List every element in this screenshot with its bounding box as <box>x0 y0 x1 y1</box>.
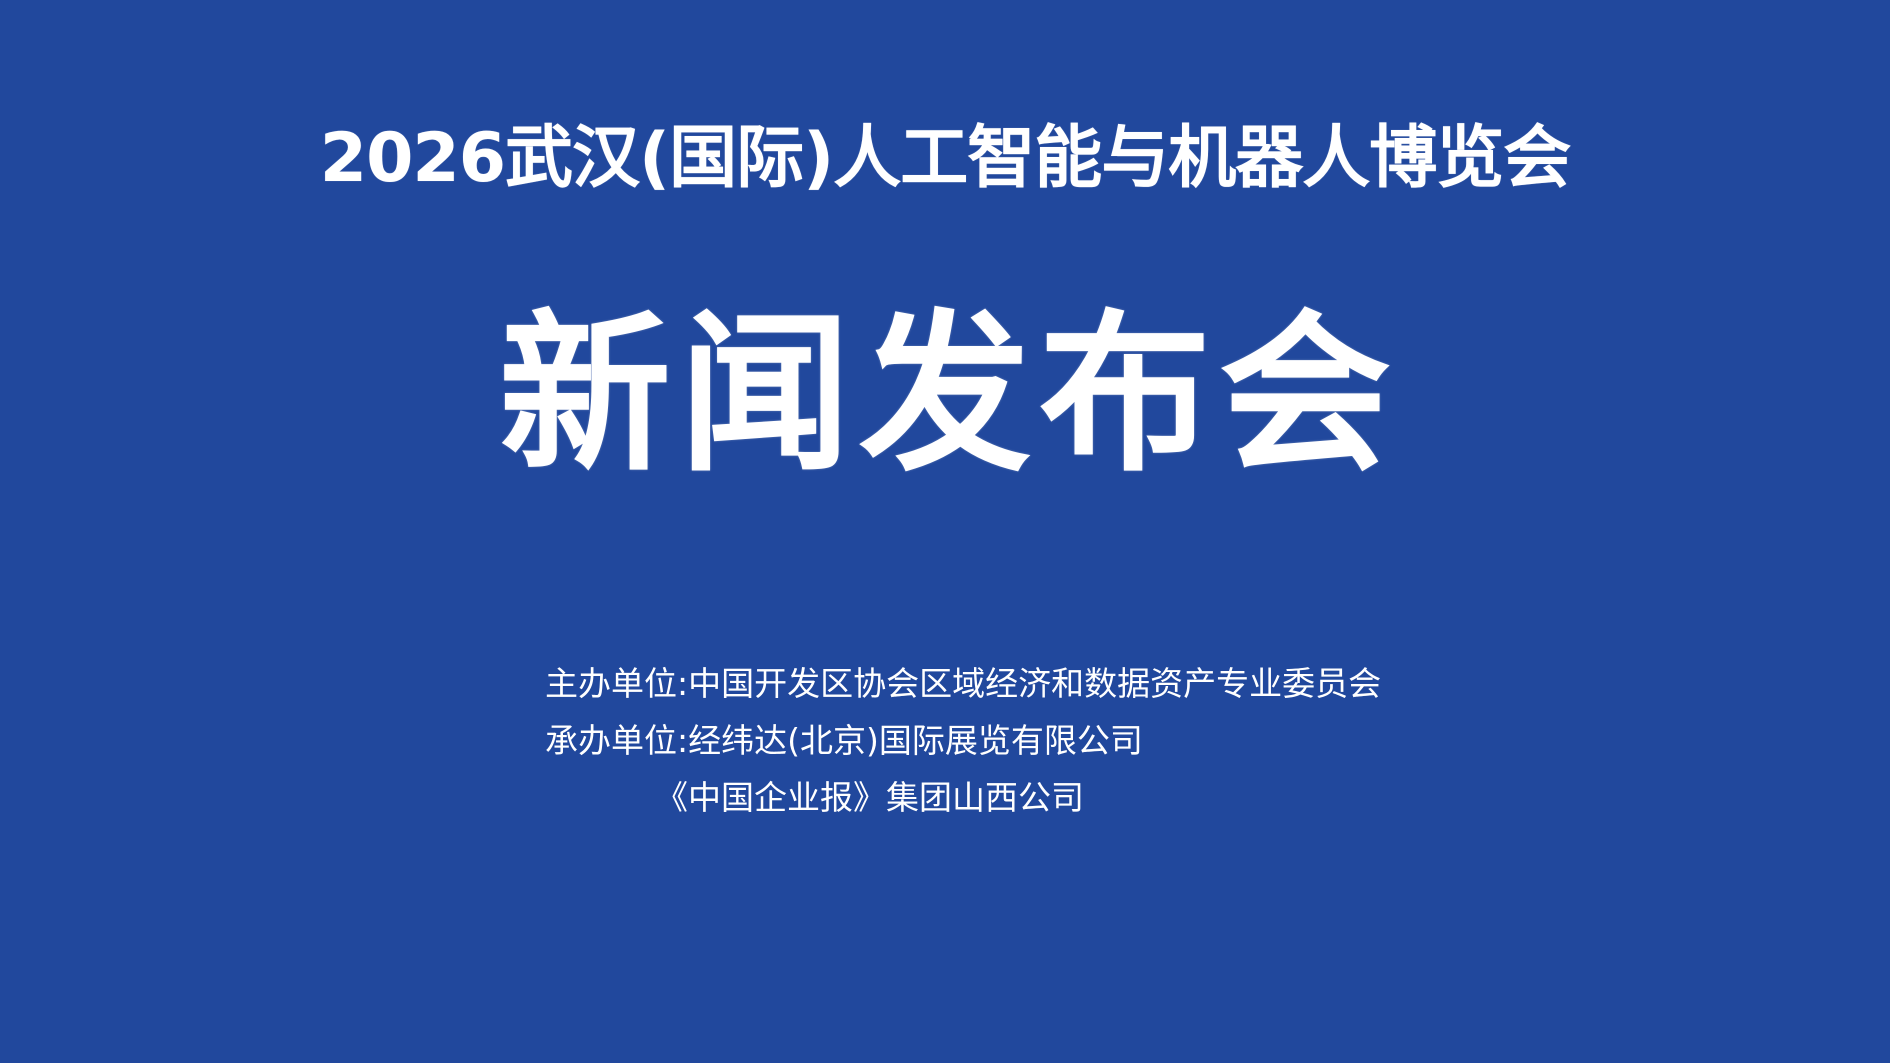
credit-line-co-organizer: 《中国企业报》集团山西公司 <box>545 769 1345 826</box>
page-title: 新闻发布会 <box>0 290 1890 500</box>
credit-line-organizer: 承办单位:经纬达(北京)国际展览有限公司 <box>545 712 1345 769</box>
organizer-credits: 主办单位:中国开发区协会区域经济和数据资产专业委员会 承办单位:经纬达(北京)国… <box>545 655 1345 826</box>
event-title: 2026武汉(国际)人工智能与机器人博览会 <box>0 118 1890 200</box>
poster-slide: 2026武汉(国际)人工智能与机器人博览会 新闻发布会 主办单位:中国开发区协会… <box>0 0 1890 1063</box>
credit-line-host: 主办单位:中国开发区协会区域经济和数据资产专业委员会 <box>545 655 1345 712</box>
